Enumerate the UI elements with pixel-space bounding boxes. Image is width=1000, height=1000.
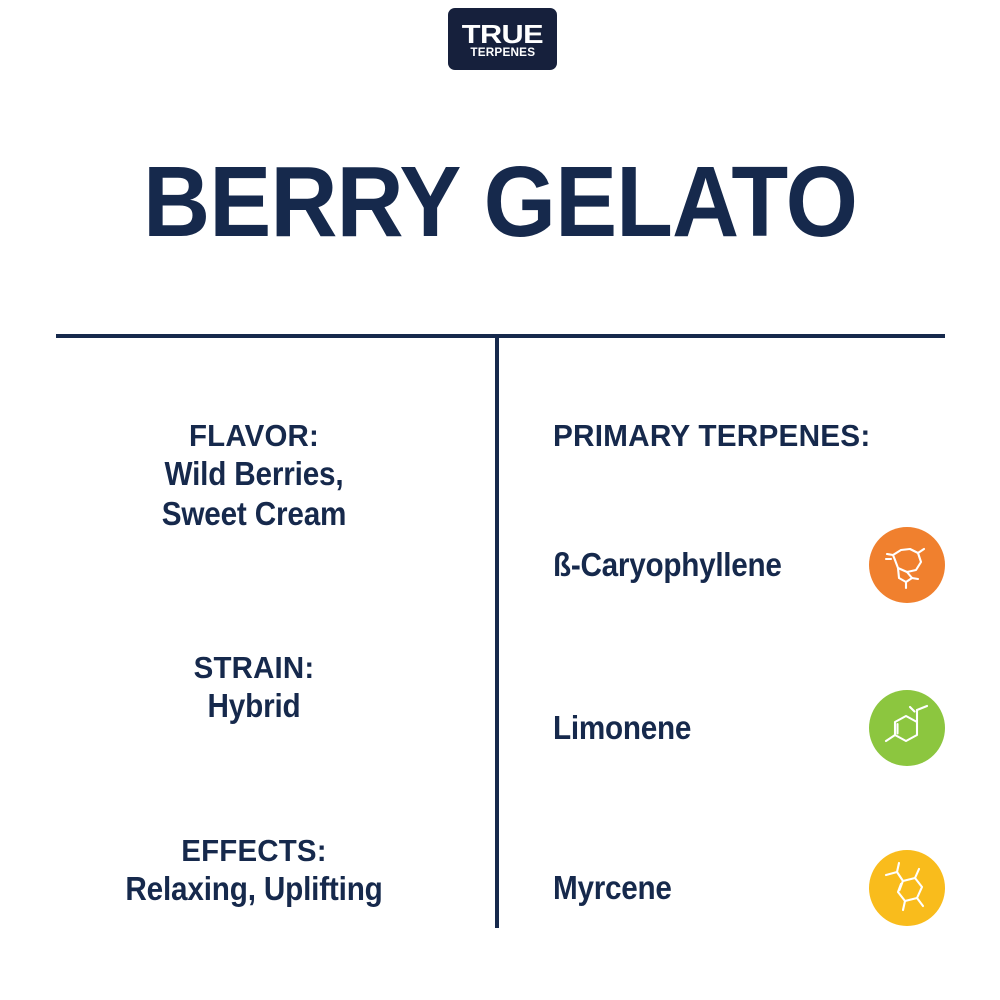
myrcene-molecule-icon <box>869 850 945 926</box>
flavor-value-line1: Wild Berries, <box>76 454 432 494</box>
horizontal-divider <box>56 334 945 338</box>
strain-label: STRAIN: <box>66 650 442 686</box>
terpene-name: ß-Caryophyllene <box>553 545 782 585</box>
flavor-label: FLAVOR: <box>66 418 442 454</box>
effects-value: Relaxing, Uplifting <box>76 869 432 909</box>
primary-terpenes-heading: PRIMARY TERPENES: <box>553 418 870 454</box>
terpene-row: Myrcene <box>553 849 945 927</box>
brand-logo-line2: TERPENES <box>470 47 535 60</box>
caryophyllene-molecule-icon <box>869 527 945 603</box>
effects-block: EFFECTS: Relaxing, Uplifting <box>56 833 452 909</box>
effects-value-line1: Relaxing, Uplifting <box>76 869 432 909</box>
brand-logo: TRUE TERPENES <box>448 8 557 70</box>
vertical-divider <box>495 334 499 928</box>
strain-block: STRAIN: Hybrid <box>56 650 452 726</box>
strain-value: Hybrid <box>76 686 432 726</box>
terpene-name: Limonene <box>553 708 691 748</box>
limonene-molecule-icon <box>869 690 945 766</box>
terpene-row: Limonene <box>553 689 945 767</box>
flavor-value: Wild Berries, Sweet Cream <box>76 454 432 534</box>
flavor-block: FLAVOR: Wild Berries, Sweet Cream <box>56 418 452 534</box>
flavor-value-line2: Sweet Cream <box>76 494 432 534</box>
effects-label: EFFECTS: <box>66 833 442 869</box>
strain-value-line1: Hybrid <box>76 686 432 726</box>
terpene-row: ß-Caryophyllene <box>553 526 945 604</box>
page-title: BERRY GELATO <box>35 148 965 256</box>
brand-logo-line1: TRUE <box>462 23 543 46</box>
terpene-name: Myrcene <box>553 868 672 908</box>
